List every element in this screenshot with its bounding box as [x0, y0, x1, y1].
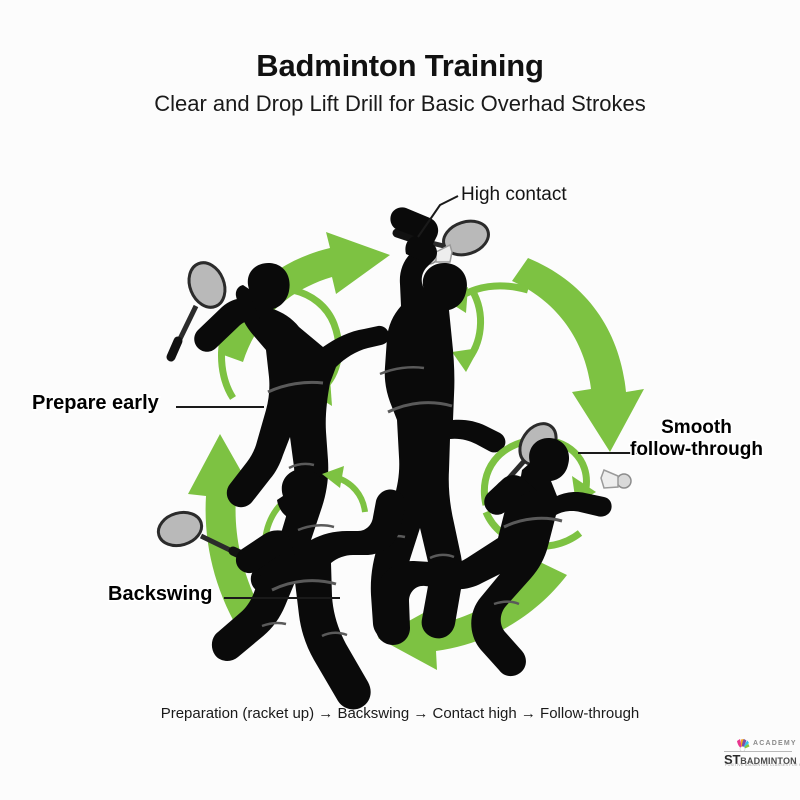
brand-logo: ACADEMY STBADMINTON POSITIVE BADMINTON C… [722, 736, 794, 772]
leader-line-backswing [224, 597, 340, 599]
callout-backswing: Backswing [108, 583, 212, 606]
motion-arrowhead-contact-down [452, 348, 479, 372]
shuttlecock-logo-icon [734, 736, 751, 751]
callout-prepare-early: Prepare early [32, 392, 159, 415]
phase-sequence-caption: Preparation (racket up) → Backswing → Co… [0, 705, 800, 722]
logo-academy-text: ACADEMY [753, 740, 797, 747]
callout-smooth-line1: Smooth [630, 417, 763, 439]
infographic-poster: Badminton Training Clear and Drop Lift D… [0, 0, 800, 800]
shuttlecock-followthrough [601, 470, 631, 488]
callout-smooth-line2: follow-through [630, 439, 763, 461]
callout-high-contact: High contact [461, 184, 567, 206]
logo-tagline: POSITIVE BADMINTON CLASSES FOR KIDS [725, 763, 800, 767]
leader-line-prepare-early [176, 406, 264, 408]
arrow-contact-to-followthrough [512, 258, 644, 452]
callout-smooth-follow-through: Smooth follow-through [630, 417, 763, 460]
